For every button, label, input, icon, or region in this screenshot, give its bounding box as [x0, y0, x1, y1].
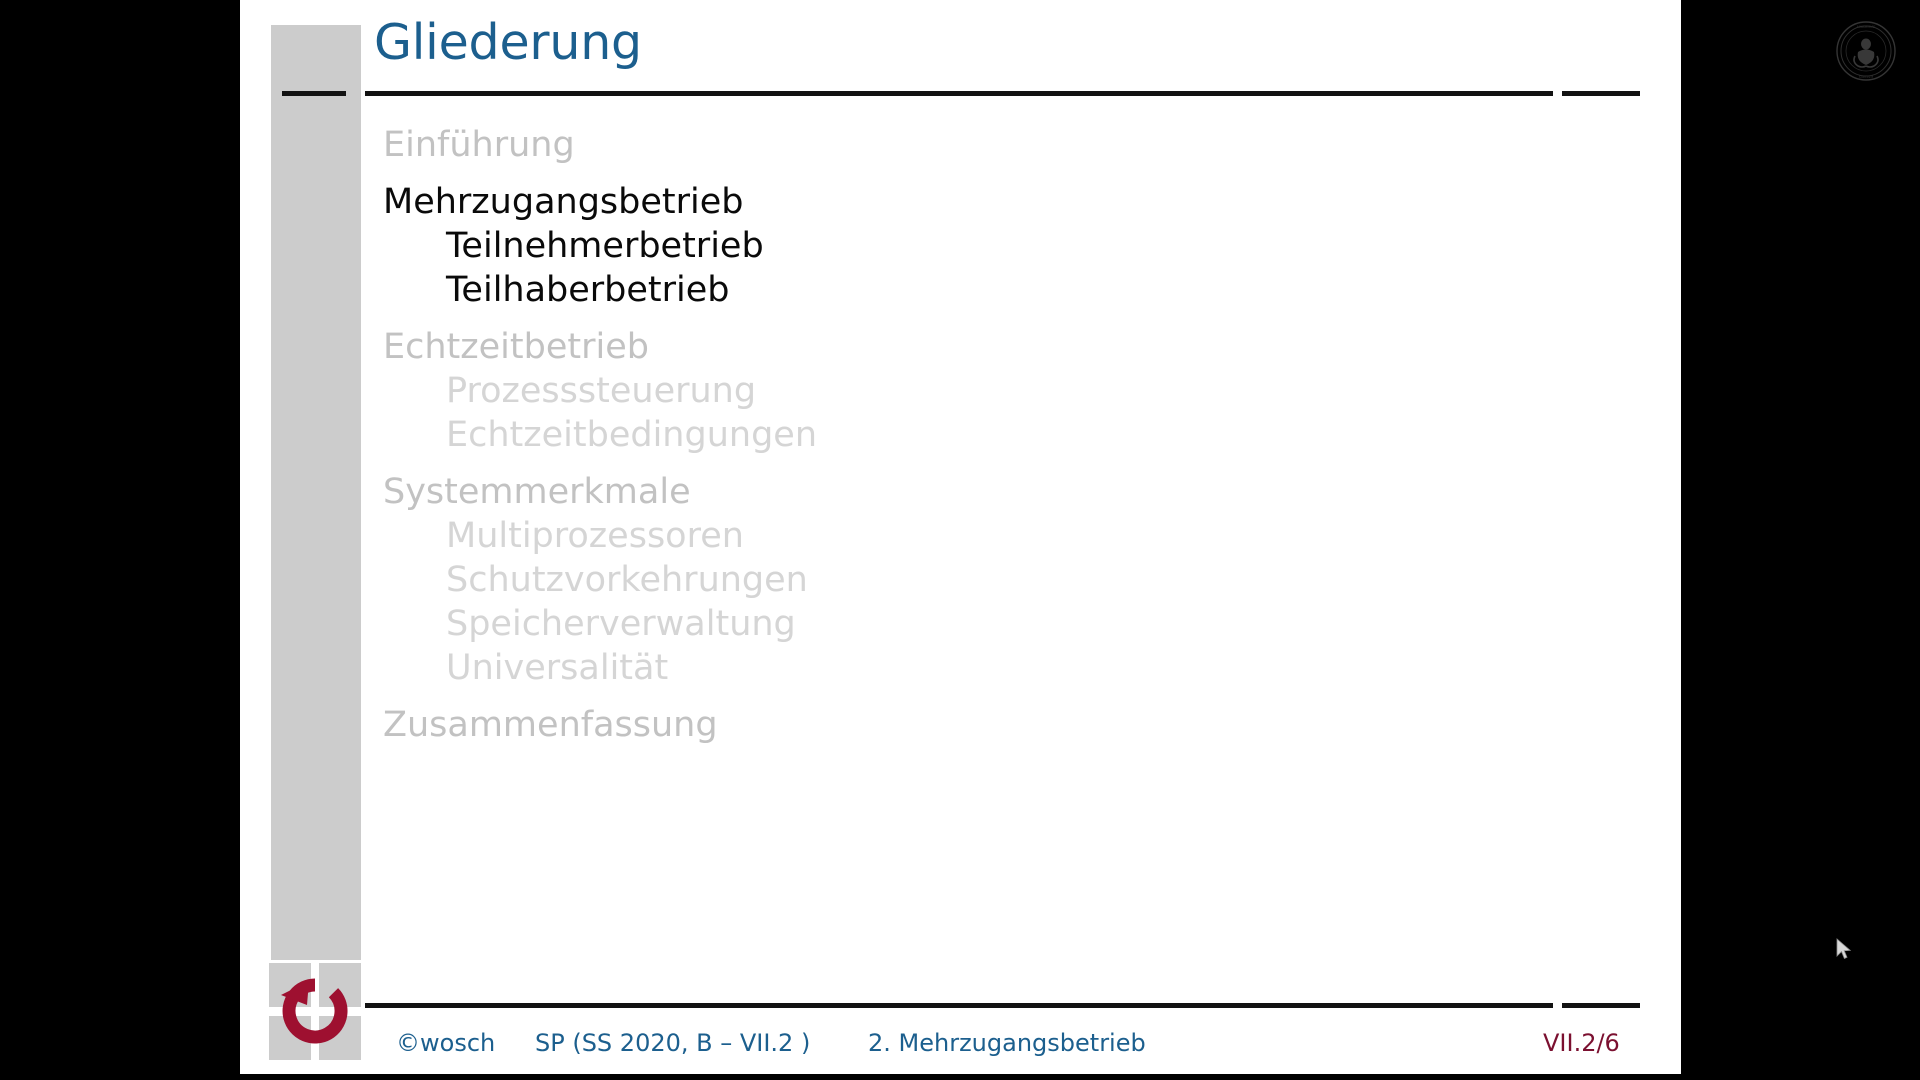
svg-text:ACADEMIAE: ACADEMIAE: [1857, 25, 1876, 29]
header-rule: [365, 91, 1553, 96]
outline-item-systemmerkmale[interactable]: Systemmerkmale: [383, 475, 1583, 510]
outline-item-speicherverwaltung[interactable]: Speicherverwaltung: [446, 607, 1583, 642]
outline-item-teilnehmerbetrieb[interactable]: Teilnehmerbetrieb: [446, 229, 1583, 264]
svg-text:SIGILLVM: SIGILLVM: [1859, 75, 1874, 79]
footer-rule: [365, 1003, 1553, 1008]
footer-course: SP (SS 2020, B – VII.2 ): [535, 1029, 810, 1057]
outline-list: Einführung Mehrzugangsbetrieb Teilnehmer…: [383, 128, 1583, 743]
footer-copyright: ©wosch: [396, 1029, 495, 1057]
outline-item-echtzeitbetrieb[interactable]: Echtzeitbetrieb: [383, 330, 1583, 365]
footer-chapter: 2. Mehrzugangsbetrieb: [868, 1029, 1146, 1057]
mouse-pointer-icon: [1836, 938, 1854, 962]
outline-item-prozesssteuerung[interactable]: Prozesssteuerung: [446, 374, 1583, 409]
slide-canvas: Gliederung Einführung Mehrzugangsbetrieb…: [240, 0, 1681, 1074]
outline-item-multiprozessoren[interactable]: Multiprozessoren: [446, 519, 1583, 554]
outline-item-schutzvorkehrungen[interactable]: Schutzvorkehrungen: [446, 563, 1583, 598]
circular-arrow-logo: [269, 963, 361, 1060]
outline-item-mehrzugangsbetrieb[interactable]: Mehrzugangsbetrieb: [383, 185, 1583, 220]
outline-item-zusammenfassung[interactable]: Zusammenfassung: [383, 708, 1583, 743]
screen: ACADEMIAE SIGILLVM Gliederung Einführung…: [0, 0, 1920, 1080]
page-title: Gliederung: [374, 14, 642, 71]
university-seal: ACADEMIAE SIGILLVM: [1835, 20, 1897, 82]
sidebar-decoration-band: [271, 25, 361, 960]
outline-item-universalitaet[interactable]: Universalität: [446, 651, 1583, 686]
header-rule-tail: [1562, 91, 1640, 96]
outline-item-einfuehrung[interactable]: Einführung: [383, 128, 1583, 163]
outline-item-echtzeitbedingungen[interactable]: Echtzeitbedingungen: [446, 418, 1583, 453]
sidebar-rule: [282, 91, 346, 96]
footer-page-number: VII.2/6: [1543, 1029, 1620, 1057]
footer-rule-tail: [1562, 1003, 1640, 1008]
outline-item-teilhaberbetrieb[interactable]: Teilhaberbetrieb: [446, 273, 1583, 308]
